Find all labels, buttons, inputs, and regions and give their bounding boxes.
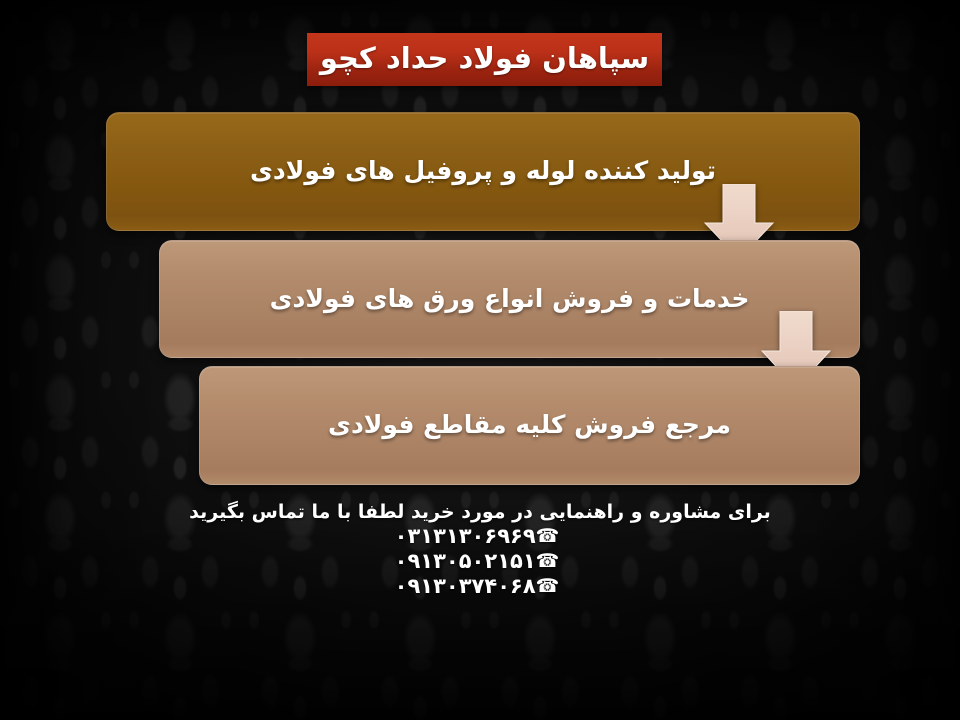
contact-heading: برای مشاوره و راهنمایی در مورد خرید لطفا… bbox=[0, 500, 960, 524]
telephone-icon: ☎ bbox=[536, 525, 560, 547]
phone-row[interactable]: ☎۰۹۱۳۰۵۰۲۱۵۱ bbox=[0, 549, 960, 574]
company-title: سپاهان فولاد حداد کچو bbox=[320, 44, 649, 76]
process-step-3[interactable]: مرجع فروش کلیه مقاطع فولادی bbox=[199, 366, 860, 485]
telephone-icon: ☎ bbox=[536, 550, 560, 572]
process-step-2-label: خدمات و فروش انواع ورق های فولادی bbox=[270, 286, 750, 313]
phone-row[interactable]: ☎۰۳۱۳۱۳۰۶۹۶۹ bbox=[0, 524, 960, 549]
process-step-2[interactable]: خدمات و فروش انواع ورق های فولادی bbox=[159, 240, 860, 358]
telephone-icon: ☎ bbox=[536, 575, 560, 597]
phone-number-3: ۰۹۱۳۰۳۷۴۰۶۸ bbox=[395, 574, 536, 598]
phone-row[interactable]: ☎۰۹۱۳۰۳۷۴۰۶۸ bbox=[0, 574, 960, 599]
process-step-3-label: مرجع فروش کلیه مقاطع فولادی bbox=[328, 412, 731, 439]
title-banner: سپاهان فولاد حداد کچو bbox=[307, 33, 662, 86]
process-step-1-label: تولید کننده لوله و پروفیل های فولادی bbox=[250, 158, 716, 185]
phone-number-1: ۰۳۱۳۱۳۰۶۹۶۹ bbox=[395, 524, 536, 548]
slide-canvas: سپاهان فولاد حداد کچو تولید کننده لوله و… bbox=[0, 0, 960, 720]
contact-block: برای مشاوره و راهنمایی در مورد خرید لطفا… bbox=[0, 500, 960, 599]
phone-number-2: ۰۹۱۳۰۵۰۲۱۵۱ bbox=[395, 549, 536, 573]
